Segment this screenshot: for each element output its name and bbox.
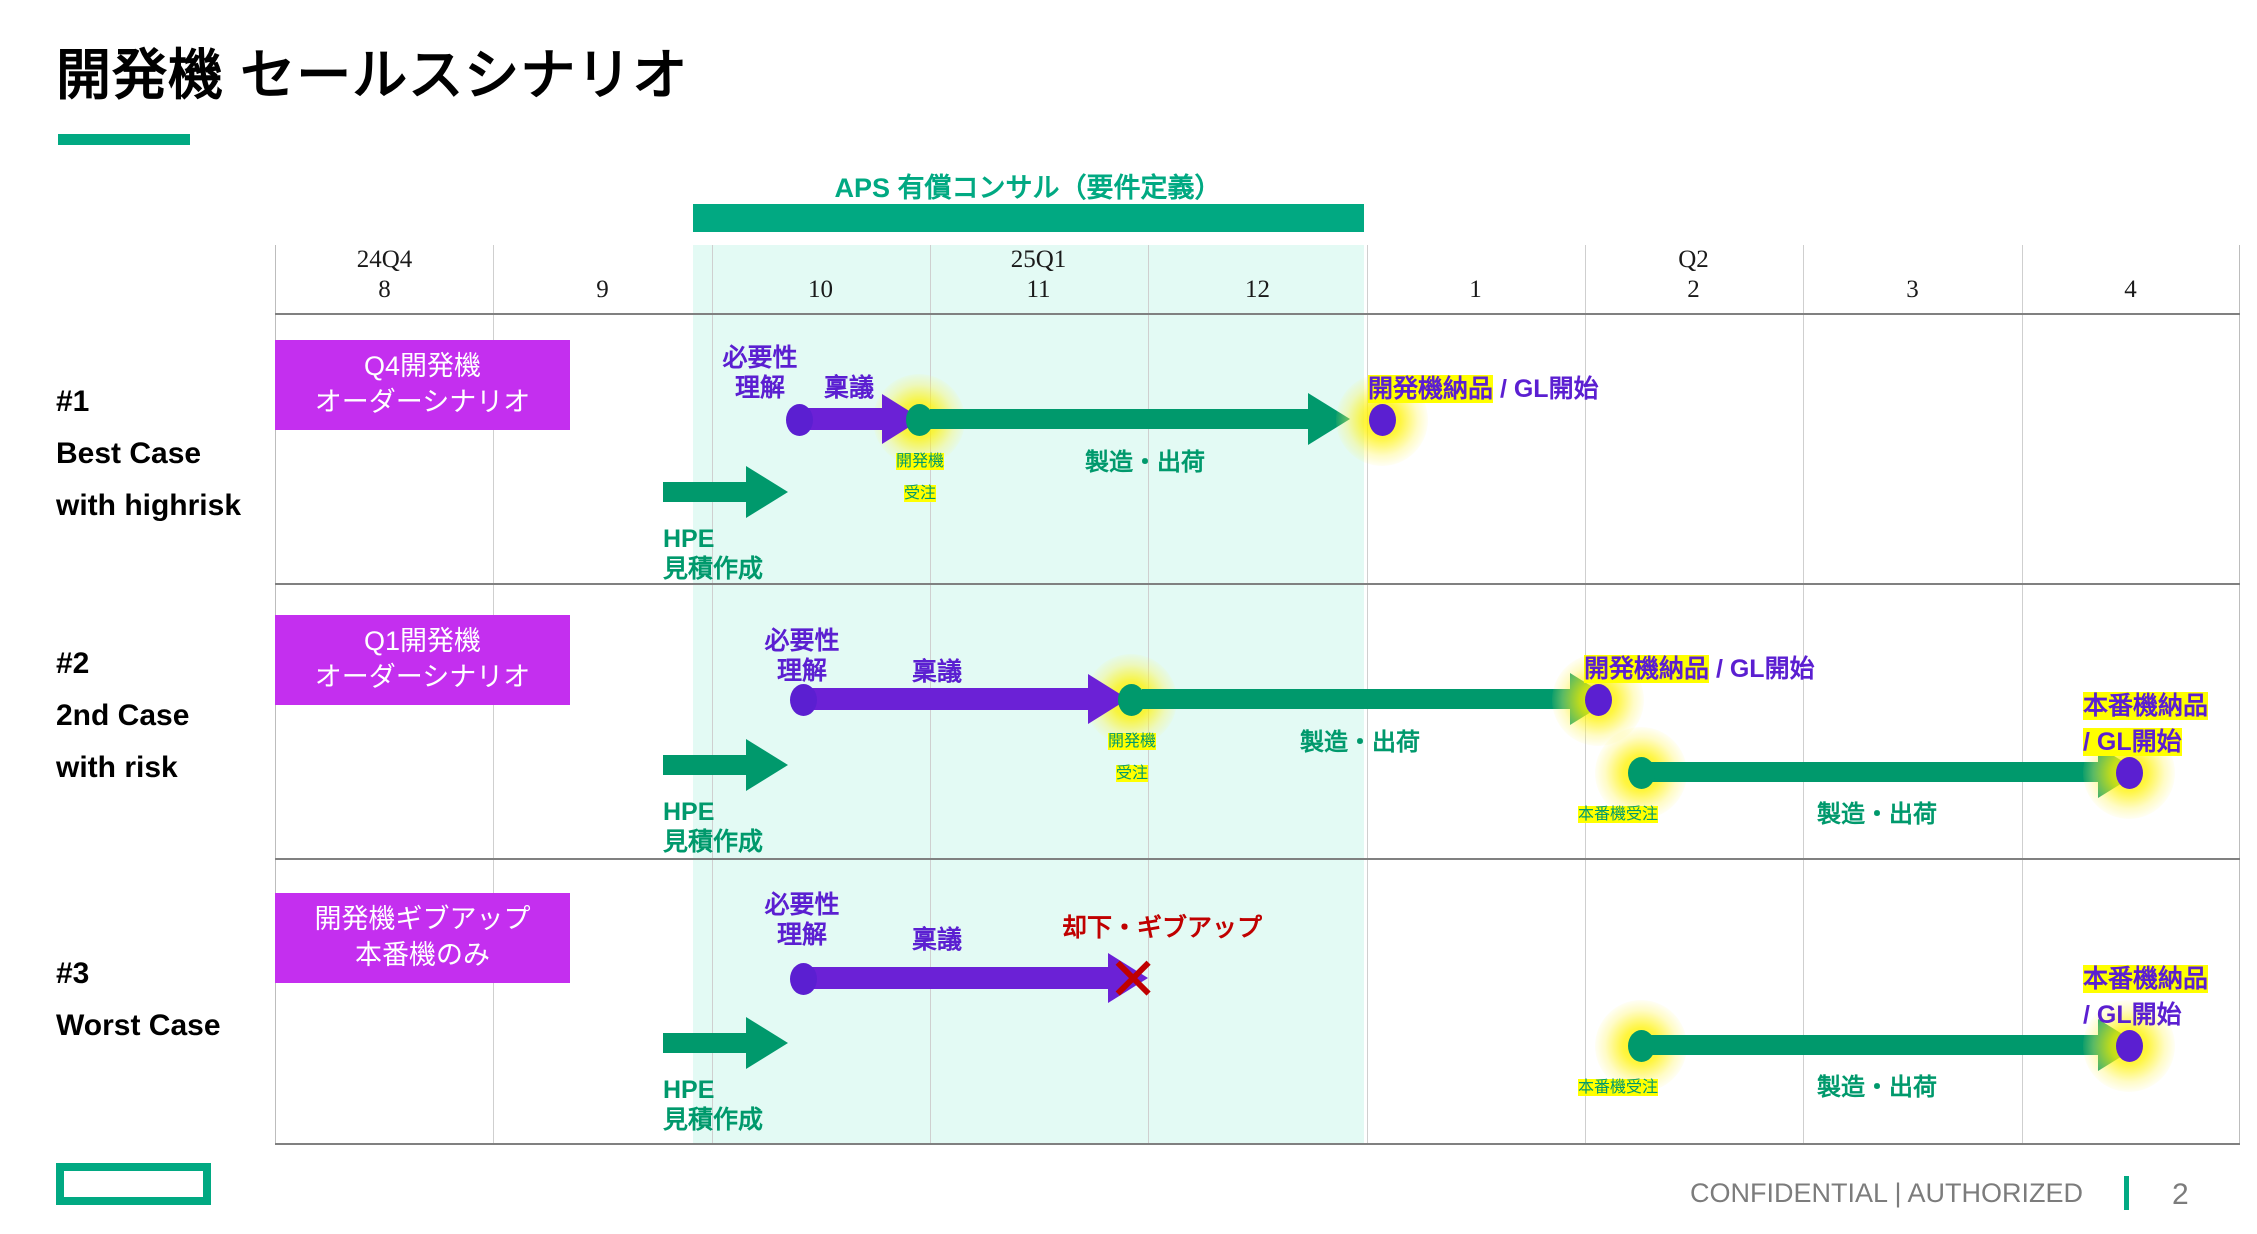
grid-row-divider-header [275,313,2240,315]
r3-prod-order-label: 本番機受注 [1578,1073,1658,1103]
row-2-case: 2nd Case [56,690,189,742]
r2-need-dot [790,684,817,716]
r2-order-label: 開発機 受注 [1067,726,1197,790]
scenario-badge-3-line2: 本番機のみ [281,937,564,973]
column-month-3: 11 [916,275,1161,305]
column-header-1: 9 [480,245,725,307]
r1-delivery-hl: 開発機納品 [1368,375,1493,403]
page-title-rest: セールスシナリオ [224,44,688,106]
r2-prod-delivery-line1: 本番機納品 [2083,692,2208,720]
r1-delivery-dot [1369,404,1396,436]
row-label-3: #3 Worst Case [56,948,221,1052]
r3-prod-delivery-line2: / GL開始 [2083,1001,2182,1029]
row-1-case: Best Case [56,428,241,480]
row-3-number: #3 [56,948,221,1000]
scenario-badge-2-line1: Q1開発機 [281,623,564,659]
row-1-risk: with highrisk [56,480,241,532]
column-month-1: 9 [480,275,725,305]
r3-need-line1: 必要性 [742,890,862,920]
column-quarter-5 [1353,245,1598,275]
r2-need-line1: 必要性 [742,626,862,656]
column-month-7: 3 [1790,275,2035,305]
row-2-number: #2 [56,638,189,690]
r2-delivery-rest: / GL開始 [1709,655,1815,683]
r2-need-label: 必要性 理解 [742,626,862,686]
r2-prod-order-text: 本番機受注 [1578,806,1658,823]
grid-row-divider-2 [275,858,2240,860]
r2-hpe-label: HPE 見積作成 [663,797,763,857]
column-header-5: 1 [1353,245,1598,307]
r1-delivery-rest: / GL開始 [1493,375,1599,403]
r2-delivery-dot [1585,684,1612,716]
r1-hpe-label: HPE 見積作成 [663,524,763,584]
r1-ringi-label: 稟議 [824,373,874,403]
r3-need-line2: 理解 [742,920,862,950]
r3-reject-label: 却下・ギブアップ [1062,913,1262,943]
r2-prod-manufacture-label: 製造・出荷 [1817,800,1937,830]
reject-x-icon: ✕ [1108,950,1158,1010]
column-quarter-8 [2008,245,2253,275]
column-quarter-7 [1790,245,2035,275]
r3-prod-delivery-dot [2116,1030,2143,1062]
r2-delivery-hl: 開発機納品 [1584,655,1709,683]
r3-need-label: 必要性 理解 [742,890,862,950]
column-quarter-3: 25Q1 [916,245,1161,275]
r2-prod-delivery-line2: / GL開始 [2083,728,2182,756]
column-quarter-6: Q2 [1571,245,1816,275]
r3-prod-manufacture-label: 製造・出荷 [1817,1073,1937,1103]
scenario-badge-1-line2: オーダーシナリオ [281,384,564,420]
row-label-1: #1 Best Case with highrisk [56,376,241,532]
r2-delivery-label: 開発機納品 / GL開始 [1584,654,1815,684]
footer-separator [2124,1176,2129,1210]
r1-manufacture-label: 製造・出荷 [1085,448,1205,478]
r1-delivery-label: 開発機納品 / GL開始 [1368,374,1599,404]
r1-order-dot [906,404,933,436]
column-quarter-0: 24Q4 [262,245,507,275]
column-quarter-4 [1135,245,1380,275]
r1-need-line1: 必要性 [700,343,820,373]
grid-row-divider-3 [275,1143,2240,1145]
r3-prod-order-dot [1628,1030,1655,1062]
r3-prod-delivery-line1: 本番機納品 [2083,965,2208,993]
column-header-7: 3 [1790,245,2035,307]
r3-need-dot [790,963,817,995]
r1-need-label: 必要性 理解 [700,343,820,403]
column-header-4: 12 [1135,245,1380,307]
column-month-0: 8 [262,275,507,305]
column-month-5: 1 [1353,275,1598,305]
r2-order-line2: 受注 [1116,765,1148,782]
r2-hpe-line2: 見積作成 [663,827,763,857]
column-header-6: Q2 2 [1571,245,1816,307]
r3-hpe-line2: 見積作成 [663,1105,763,1135]
grid-line-8 [2022,245,2023,1145]
grid-line-7 [1803,245,1804,1145]
column-month-2: 10 [698,275,943,305]
scenario-badge-2[interactable]: Q1開発機 オーダーシナリオ [275,615,570,705]
r1-need-line2: 理解 [700,373,820,403]
r3-hpe-label: HPE 見積作成 [663,1075,763,1135]
scenario-badge-3-line1: 開発機ギブアップ [281,901,564,937]
r3-prod-delivery-label: 本番機納品 / GL開始 [2083,961,2208,1033]
page-title: 開発機 セールスシナリオ [56,30,688,110]
r2-manufacture-label: 製造・出荷 [1300,728,1420,758]
column-quarter-2 [698,245,943,275]
title-underline-bar [58,134,190,145]
column-month-6: 2 [1571,275,1816,305]
r2-need-line2: 理解 [742,656,862,686]
column-header-3: 25Q1 11 [916,245,1161,307]
r2-order-line1: 開発機 [1108,733,1156,750]
r2-order-dot [1118,684,1145,716]
row-label-2: #2 2nd Case with risk [56,638,189,794]
column-header-0: 24Q4 8 [262,245,507,307]
grid-row-divider-1 [275,583,2240,585]
r1-order-label: 開発機 受注 [855,446,985,510]
page-title-bold: 開発機 [56,44,224,106]
column-month-4: 12 [1135,275,1380,305]
scenario-badge-1[interactable]: Q4開発機 オーダーシナリオ [275,340,570,430]
r1-order-line2: 受注 [904,485,936,502]
grid-line-9 [2239,245,2240,1145]
aps-consulting-label: APS 有償コンサル（要件定義） [693,166,1363,205]
r1-need-dot [786,404,813,436]
r2-prod-delivery-dot [2116,757,2143,789]
r3-ringi-label: 稟議 [912,925,962,955]
r2-hpe-line1: HPE [663,797,763,827]
r3-hpe-line1: HPE [663,1075,763,1105]
scenario-badge-3[interactable]: 開発機ギブアップ 本番機のみ [275,893,570,983]
column-header-2: 10 [698,245,943,307]
row-1-number: #1 [56,376,241,428]
hpe-logo [56,1163,211,1205]
r2-prod-order-dot [1628,757,1655,789]
column-month-8: 4 [2008,275,2253,305]
scenario-badge-2-line2: オーダーシナリオ [281,659,564,695]
page-number: 2 [2172,1178,2189,1212]
r1-hpe-line2: 見積作成 [663,554,763,584]
slide-canvas: 開発機 セールスシナリオ APS 有償コンサル（要件定義） 24Q4 8 9 [0,0,2257,1234]
column-header-8: 4 [2008,245,2253,307]
r2-prod-order-label: 本番機受注 [1578,800,1658,830]
scenario-badge-1-line1: Q4開発機 [281,348,564,384]
row-2-risk: with risk [56,742,189,794]
aps-consulting-bar [693,204,1364,232]
r1-order-line1: 開発機 [896,453,944,470]
r2-ringi-label: 稟議 [912,657,962,687]
confidentiality-notice: CONFIDENTIAL | AUTHORIZED [1690,1178,2083,1209]
row-3-case: Worst Case [56,1000,221,1052]
r2-prod-delivery-label: 本番機納品 / GL開始 [2083,688,2208,760]
column-quarter-1 [480,245,725,275]
r3-prod-order-text: 本番機受注 [1578,1079,1658,1096]
r1-hpe-line1: HPE [663,524,763,554]
